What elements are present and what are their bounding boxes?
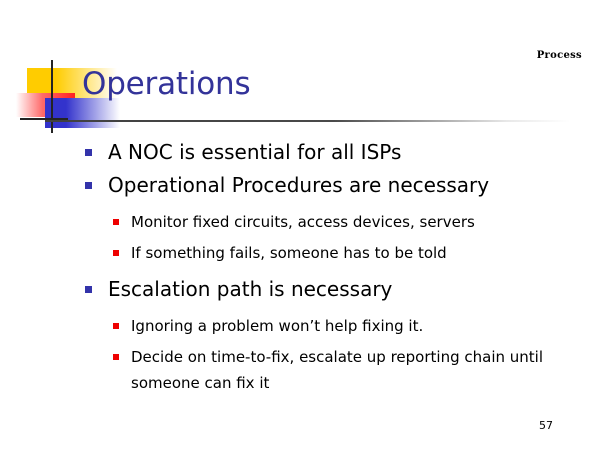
slide-category-label: Process — [537, 50, 582, 61]
bullet-text: A NOC is essential for all ISPs — [108, 138, 600, 167]
slide-page-number: 57 — [539, 419, 553, 432]
bullet-square-icon — [85, 149, 92, 156]
bullet-text: Ignoring a problem won’t help fixing it. — [131, 313, 600, 339]
spacer — [0, 266, 600, 275]
bullet-square-icon — [113, 250, 119, 256]
bullet-item: A NOC is essential for all ISPs — [0, 138, 600, 167]
bullet-item: If something fails, someone has to be to… — [0, 240, 600, 266]
bullet-item: Operational Procedures are necessary — [0, 171, 600, 200]
bullet-item: Monitor fixed circuits, access devices, … — [0, 209, 600, 235]
bullet-square-icon — [113, 219, 119, 225]
bullet-item: Escalation path is necessary — [0, 275, 600, 304]
slide-body: A NOC is essential for all ISPs Operatio… — [0, 138, 600, 396]
bullet-item: Ignoring a problem won’t help fixing it. — [0, 313, 600, 339]
spacer — [0, 200, 600, 209]
bullet-text: Monitor fixed circuits, access devices, … — [131, 209, 600, 235]
title-underline-rule — [45, 120, 570, 122]
decoration-vertical-line — [51, 60, 53, 133]
bullet-square-icon — [113, 354, 119, 360]
decoration-blue-block — [45, 98, 120, 128]
bullet-text: If something fails, someone has to be to… — [131, 240, 600, 266]
bullet-text: Escalation path is necessary — [108, 275, 600, 304]
bullet-text: Decide on time-to-fix, escalate up repor… — [131, 344, 600, 396]
bullet-square-icon — [113, 323, 119, 329]
bullet-text: Operational Procedures are necessary — [108, 171, 600, 200]
bullet-item: Decide on time-to-fix, escalate up repor… — [0, 344, 600, 396]
spacer — [0, 304, 600, 313]
slide-canvas: Process Operations A NOC is essential fo… — [0, 0, 600, 450]
bullet-square-icon — [85, 182, 92, 189]
bullet-square-icon — [85, 286, 92, 293]
slide-title: Operations — [82, 66, 250, 102]
